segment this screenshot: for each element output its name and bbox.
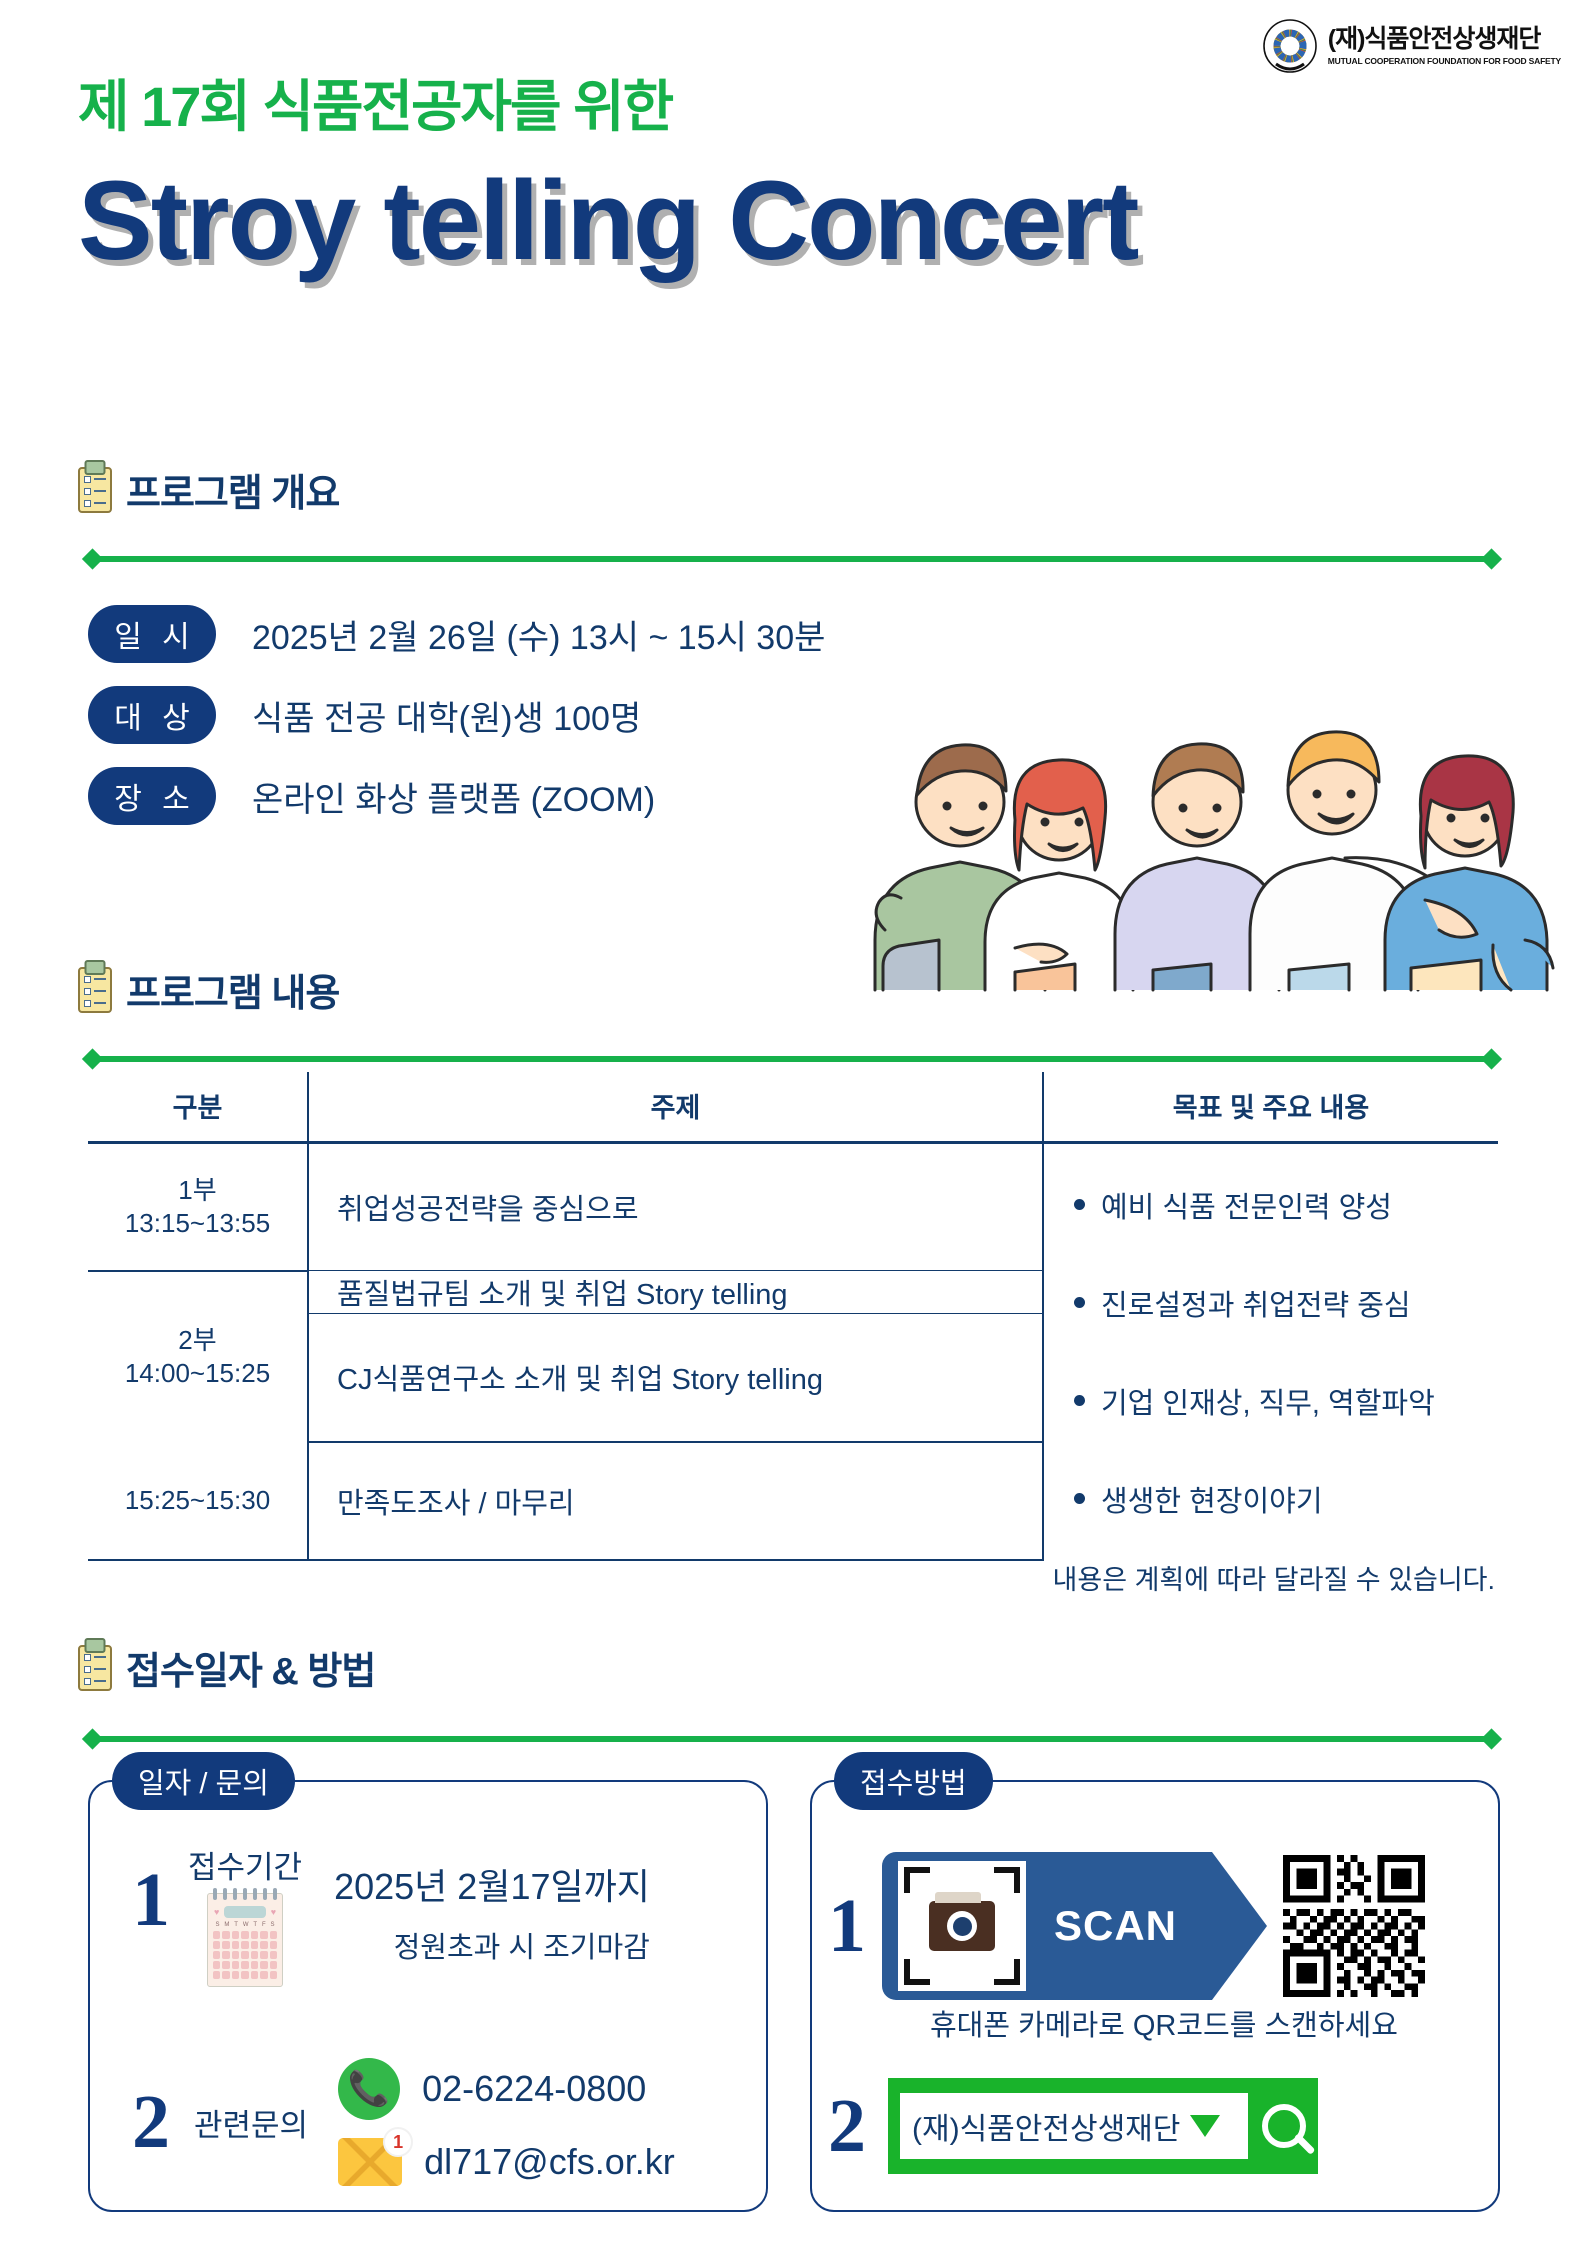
scan-label: SCAN: [1054, 1902, 1177, 1950]
info-label-audience: 대 상: [88, 686, 216, 744]
row2-topic: 품질법규팀 소개 및 취업 Story telling: [308, 1271, 1043, 1314]
contact-label: 관련문의: [194, 2100, 308, 2145]
clipboard-icon: [78, 967, 112, 1013]
contact-email-row: 1 dl717@cfs.or.kr: [338, 2138, 675, 2186]
qr-code-icon: [1283, 1855, 1425, 1997]
magnifier-icon[interactable]: [1262, 2104, 1306, 2148]
scan-banner: SCAN: [882, 1852, 1267, 2000]
contact-email-value: dl717@cfs.or.kr: [424, 2141, 675, 2183]
apply-left-tab: 일자 / 문의: [112, 1752, 295, 1810]
poster-kicker: 제 17회 식품전공자를 위한: [78, 62, 672, 143]
divider-overview: [92, 556, 1492, 562]
clipboard-icon: [78, 1645, 112, 1691]
goals-list: 예비 식품 전문인력 양성 진로설정과 취업전략 중심 기업 인재상, 직무, …: [1074, 1176, 1498, 1528]
info-row-date: 일 시 2025년 2월 26일 (수) 13시 ~ 15시 30분: [88, 603, 825, 665]
goal-text: 생생한 현장이야기: [1101, 1478, 1323, 1520]
poster-title: Stroy telling Concert: [78, 165, 1137, 277]
info-row-venue: 장 소 온라인 화상 플랫폼 (ZOOM): [88, 765, 825, 827]
row4-time-range: 15:25~15:30: [88, 1484, 307, 1517]
bullet-icon: [1074, 1297, 1085, 1308]
search-bar[interactable]: (재)식품안전상생재단: [888, 2078, 1318, 2174]
row4-topic: 만족도조사 / 마무리: [308, 1442, 1043, 1560]
info-row-audience: 대 상 식품 전공 대학(원)생 100명: [88, 684, 825, 746]
step-number-2: 2: [132, 2092, 170, 2153]
info-value-audience: 식품 전공 대학(원)생 100명: [252, 691, 641, 740]
row1-topic: 취업성공전략을 중심으로: [308, 1143, 1043, 1271]
search-input-value: (재)식품안전상생재단: [912, 2104, 1180, 2148]
step-number-2: 2: [828, 2096, 866, 2157]
section-title-content: 프로그램 내용: [126, 962, 339, 1017]
apply-left-item-1: 1 접수기간 ♥♥ SMTWTFS 2025년 2월17일까지 정원초과 시 조…: [132, 1848, 650, 1987]
row1-time-range: 13:15~13:55: [88, 1207, 307, 1240]
goal-item: 생생한 현장이야기: [1074, 1478, 1498, 1520]
contact-phone-row: 📞 02-6224-0800: [338, 2058, 675, 2120]
people-group-illustration: [865, 690, 1555, 1000]
table-header-topic: 주제: [308, 1072, 1043, 1143]
goal-text: 진로설정과 취업전략 중심: [1101, 1282, 1411, 1324]
goal-text: 기업 인재상, 직무, 역할파악: [1101, 1380, 1435, 1422]
contact-phone-value: 02-6224-0800: [422, 2068, 646, 2110]
search-input[interactable]: (재)식품안전상생재단: [900, 2093, 1248, 2159]
goal-item: 진로설정과 취업전략 중심: [1074, 1282, 1498, 1324]
apply-period-label: 접수기간: [188, 1842, 302, 1887]
clipboard-icon: [78, 467, 112, 513]
goal-item: 기업 인재상, 직무, 역할파악: [1074, 1380, 1498, 1422]
row4-time: 15:25~15:30: [88, 1442, 308, 1560]
overview-info-list: 일 시 2025년 2월 26일 (수) 13시 ~ 15시 30분 대 상 식…: [88, 603, 825, 846]
info-label-date: 일 시: [88, 605, 216, 663]
goal-text: 예비 식품 전문인력 양성: [1101, 1184, 1392, 1226]
logo-name: (재)식품안전상생재단: [1328, 27, 1541, 52]
table-header-row: 구분 주제 목표 및 주요 내용: [88, 1072, 1498, 1143]
table-header-division: 구분: [88, 1072, 308, 1143]
apply-right-item-1: 1 SCAN: [828, 1852, 1425, 2000]
info-value-venue: 온라인 화상 플랫폼 (ZOOM): [252, 772, 655, 821]
row2-time-part: 2부: [88, 1324, 307, 1357]
mail-badge: 1: [383, 2127, 413, 2157]
bullet-icon: [1074, 1395, 1085, 1406]
goals-cell: 예비 식품 전문인력 양성 진로설정과 취업전략 중심 기업 인재상, 직무, …: [1043, 1143, 1498, 1560]
section-header-overview: 프로그램 개요: [78, 462, 339, 517]
section-header-content: 프로그램 내용: [78, 962, 339, 1017]
step-number-1: 1: [132, 1870, 170, 1931]
calendar-icon: ♥♥ SMTWTFS: [207, 1893, 283, 1987]
apply-right-item-2: 2 (재)식품안전상생재단: [828, 2078, 1318, 2174]
qr-caption: 휴대폰 카메라로 QR코드를 스캔하세요: [930, 2002, 1398, 2044]
apply-period-value: 2025년 2월17일까지: [334, 1858, 650, 1910]
section-header-apply: 접수일자 & 방법: [78, 1640, 375, 1695]
bullet-icon: [1074, 1493, 1085, 1504]
table-row: 1부 13:15~13:55 취업성공전략을 중심으로 예비 식품 전문인력 양…: [88, 1143, 1498, 1271]
logo-emblem-icon: [1262, 18, 1318, 74]
row2-time-range: 14:00~15:25: [88, 1357, 307, 1390]
divider-apply: [92, 1736, 1492, 1742]
apply-right-tab: 접수방법: [834, 1752, 993, 1810]
mail-icon: 1: [338, 2138, 402, 2186]
apply-period-note: 정원초과 시 조기마감: [394, 1924, 650, 1966]
step-number-1: 1: [828, 1896, 866, 1957]
phone-icon: 📞: [338, 2058, 400, 2120]
apply-left-item-2: 2 관련문의 📞 02-6224-0800 1 dl717@cfs.or.kr: [132, 2058, 675, 2186]
row1-time: 1부 13:15~13:55: [88, 1143, 308, 1271]
section-title-overview: 프로그램 개요: [126, 462, 339, 517]
info-value-date: 2025년 2월 26일 (수) 13시 ~ 15시 30분: [252, 610, 825, 659]
goal-item: 예비 식품 전문인력 양성: [1074, 1184, 1498, 1226]
info-label-venue: 장 소: [88, 767, 216, 825]
row3-topic: CJ식품연구소 소개 및 취업 Story telling: [308, 1314, 1043, 1442]
section-title-apply: 접수일자 & 방법: [126, 1640, 375, 1695]
table-note: 내용은 계획에 따라 달라질 수 있습니다.: [1053, 1558, 1495, 1597]
foundation-logo: (재)식품안전상생재단 MUTUAL COOPERATION FOUNDATIO…: [1262, 18, 1561, 74]
divider-content: [92, 1056, 1492, 1062]
camera-icon: [898, 1861, 1026, 1991]
chevron-down-icon[interactable]: [1190, 2115, 1220, 2137]
row1-time-part: 1부: [88, 1174, 307, 1207]
logo-english-name: MUTUAL COOPERATION FOUNDATION FOR FOOD S…: [1328, 56, 1561, 66]
bullet-icon: [1074, 1199, 1085, 1210]
program-table: 구분 주제 목표 및 주요 내용 1부 13:15~13:55 취업성공전략을 …: [88, 1072, 1498, 1561]
table-header-goals: 목표 및 주요 내용: [1043, 1072, 1498, 1143]
row2-time: 2부 14:00~15:25: [88, 1271, 308, 1442]
